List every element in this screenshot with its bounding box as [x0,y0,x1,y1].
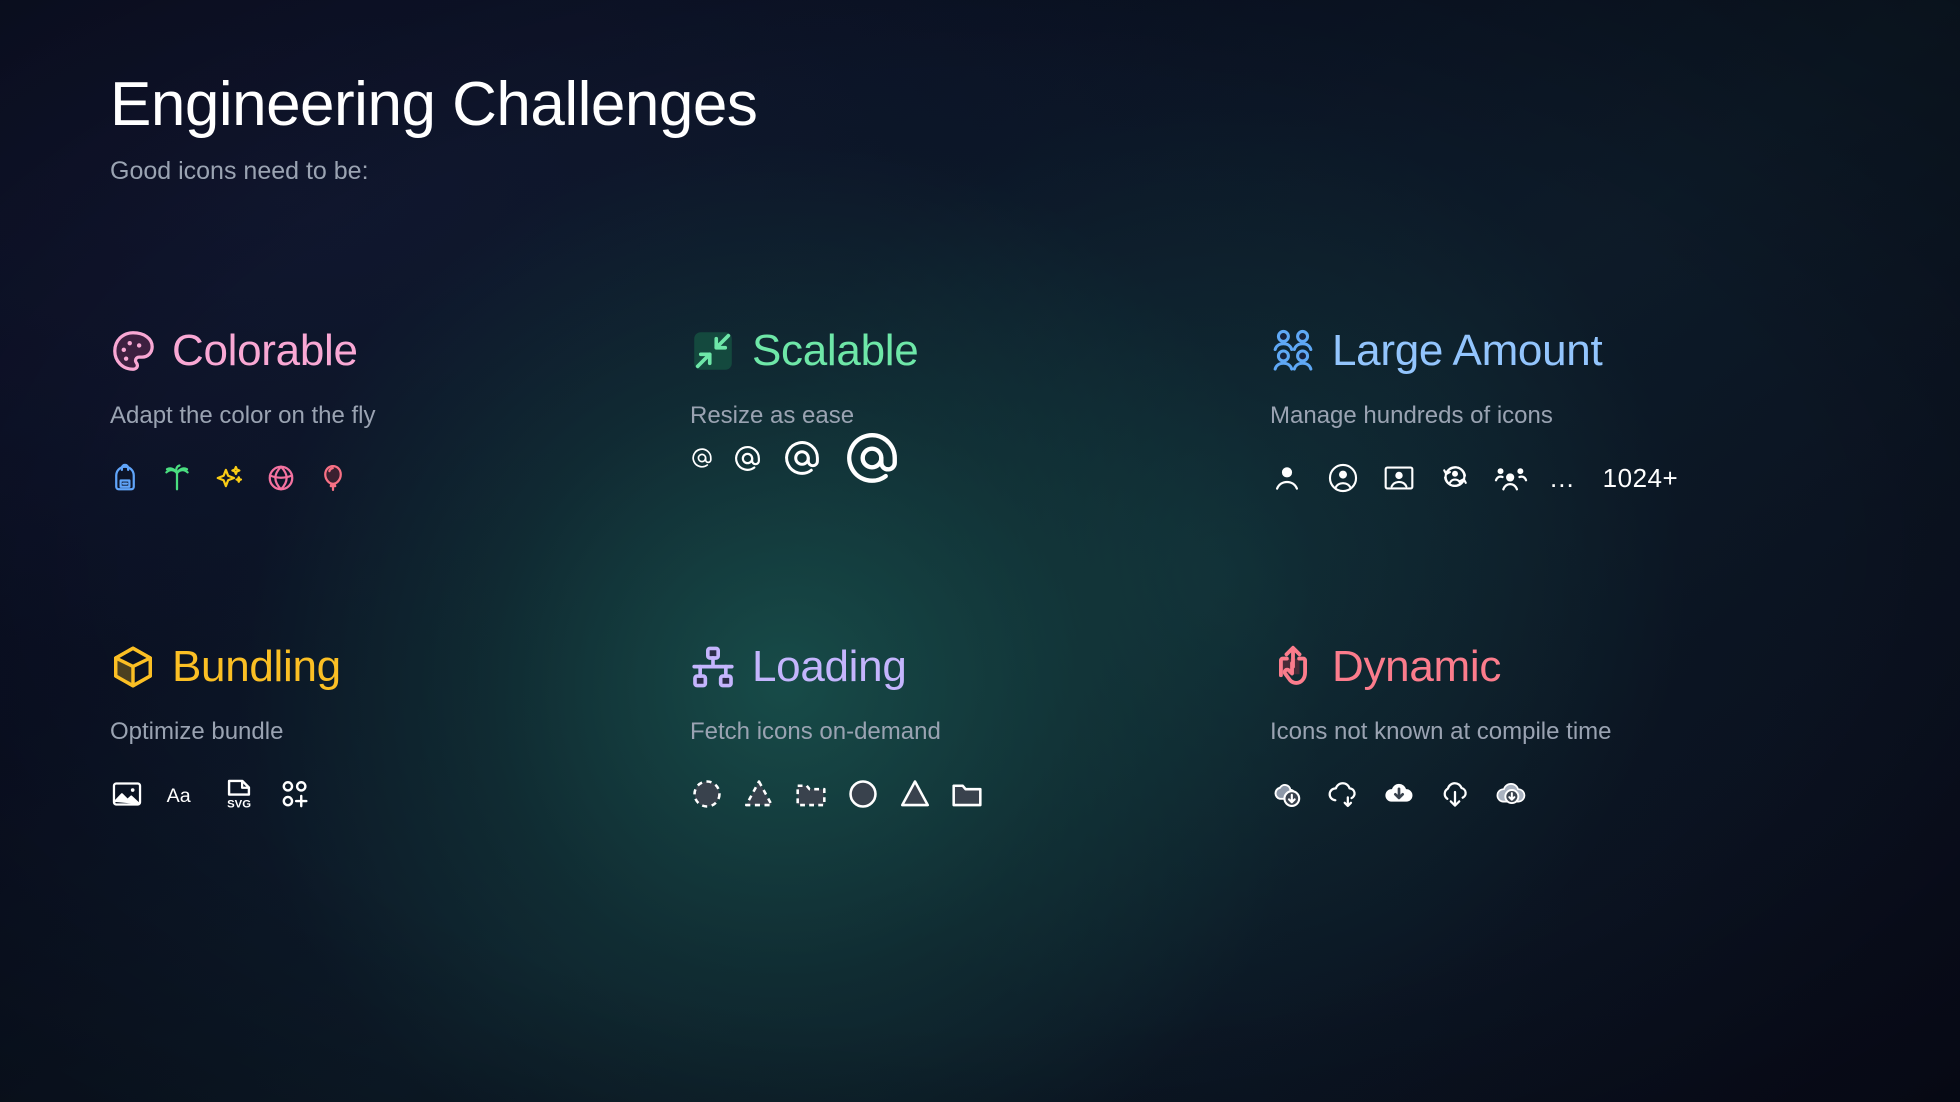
sparkles-icon [214,461,244,495]
page-header: Engineering Challenges Good icons need t… [110,72,757,186]
svg-text:SVG: SVG [227,798,251,810]
card-scalable-demo-icons [690,430,1270,486]
cloud-download-duo-icon [1270,777,1304,811]
card-loading-header: Loading [690,636,1270,698]
cloud-download-outline-icon [1326,777,1360,811]
card-scalable-desc: Resize as ease [690,402,1270,430]
hand-swipe-up-icon [1270,644,1316,690]
card-bundling-desc: Optimize bundle [110,718,690,746]
card-scalable-header: Scalable [690,320,1270,382]
triangle-icon [898,777,932,811]
card-dynamic: Dynamic Icons not known at compile time [1270,636,1810,820]
folder-icon [950,777,984,811]
card-large-amount-demo-icons: ... 1024+ [1270,452,1810,504]
card-loading: Loading Fetch icons on-demand [690,636,1270,820]
at-symbol-icon-lg [841,427,903,489]
icon-count-label: 1024+ [1603,463,1679,494]
svg-file-icon: SVG [222,777,256,811]
challenge-card-grid: Colorable Adapt the color on the fly [110,320,1810,820]
typography-aa-icon: Aa [166,777,200,811]
card-large-amount-title: Large Amount [1332,329,1602,373]
image-icon [110,777,144,811]
card-scalable-title: Scalable [752,329,918,373]
card-scalable: Scalable Resize as ease [690,320,1270,578]
palette-icon [110,328,156,374]
card-colorable-desc: Adapt the color on the fly [110,402,690,430]
overflow-ellipsis: ... [1550,463,1575,494]
card-dynamic-title: Dynamic [1332,645,1501,689]
circle-icon [846,777,880,811]
card-bundling: Bundling Optimize bundle Aa [110,636,690,820]
hierarchy-network-icon [690,644,736,690]
at-symbol-icon-md [781,437,823,479]
shrink-arrows-icon [690,328,736,374]
card-dynamic-header: Dynamic [1270,636,1810,698]
at-symbol-icon-xs [690,446,714,470]
card-colorable-header: Colorable [110,320,690,382]
user-icon [1270,461,1304,495]
card-large-amount-desc: Manage hundreds of icons [1270,402,1810,430]
palm-tree-icon [162,461,192,495]
cloud-download-filled-icon [1382,777,1416,811]
page-subtitle: Good icons need to be: [110,157,757,186]
page-title: Engineering Challenges [110,72,757,137]
card-bundling-header: Bundling [110,636,690,698]
balloon-icon [318,461,348,495]
svg-text:Aa: Aa [167,785,191,807]
card-colorable-demo-icons [110,452,690,504]
card-large-amount: Large Amount Manage hundreds of icons [1270,320,1810,578]
users-multiple-icon [1494,461,1528,495]
card-bundling-demo-icons: Aa SVG [110,768,690,820]
card-loading-demo-icons [690,768,1270,820]
backpack-icon [110,461,140,495]
cloud-download-solid-icon [1494,777,1528,811]
binary-dots-icon [278,777,312,811]
circle-dashed-icon [690,777,724,811]
users-group-icon [1270,328,1316,374]
beach-ball-icon [266,461,296,495]
card-colorable-title: Colorable [172,329,358,373]
cloud-download-arrow-icon [1438,777,1472,811]
card-bundling-title: Bundling [172,645,341,689]
card-dynamic-desc: Icons not known at compile time [1270,718,1810,746]
user-square-icon [1382,461,1416,495]
card-colorable: Colorable Adapt the color on the fly [110,320,690,578]
card-large-amount-header: Large Amount [1270,320,1810,382]
triangle-dashed-icon [742,777,776,811]
card-dynamic-demo-icons [1270,768,1810,820]
card-loading-title: Loading [752,645,907,689]
box-3d-icon [110,644,156,690]
card-loading-desc: Fetch icons on-demand [690,718,1270,746]
at-symbol-icon-sm [732,443,763,474]
user-circle-icon [1326,461,1360,495]
user-sync-icon [1438,461,1472,495]
folder-dashed-icon [794,777,828,811]
